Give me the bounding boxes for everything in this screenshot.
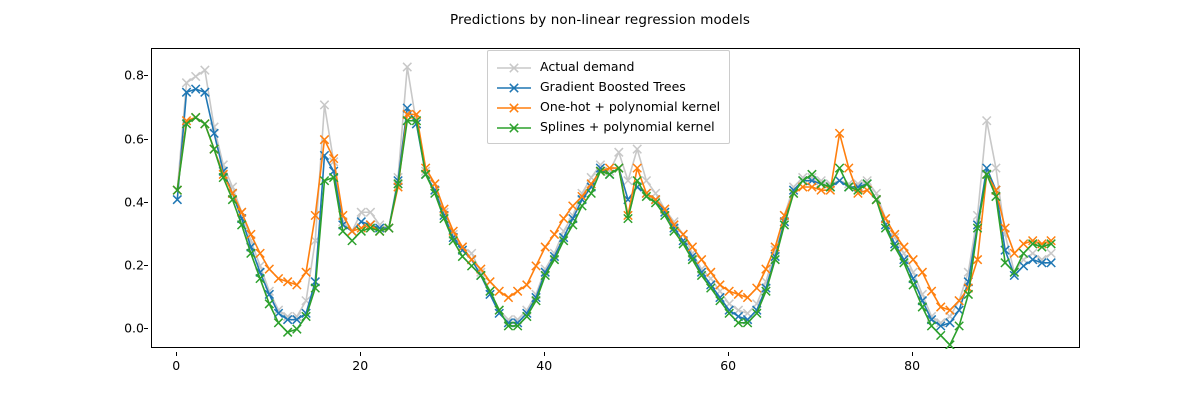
legend-line-sample (496, 120, 532, 134)
x-axis-tick-labels: 020406080 (151, 352, 1080, 374)
legend-item-label: Gradient Boosted Trees (540, 81, 686, 94)
x-tick-mark (728, 352, 729, 356)
y-tick-label: 0.6 (124, 131, 144, 146)
legend-item[interactable]: Splines + polynomial kernel (496, 117, 720, 137)
x-tick-mark (912, 352, 913, 356)
x-tick-label: 0 (172, 358, 180, 373)
legend-line-sample (496, 60, 532, 74)
legend: Actual demandGradient Boosted TreesOne-h… (487, 50, 730, 144)
legend-item-label: Actual demand (540, 61, 634, 74)
y-tick-mark (144, 139, 148, 140)
matplotlib-figure: Predictions by non-linear regression mod… (0, 0, 1200, 400)
legend-line-sample (496, 80, 532, 94)
legend-item[interactable]: One-hot + polynomial kernel (496, 97, 720, 117)
legend-item-label: Splines + polynomial kernel (540, 121, 715, 134)
y-tick-label: 0.4 (124, 194, 144, 209)
x-tick-label: 60 (720, 358, 736, 373)
page-title: Predictions by non-linear regression mod… (0, 12, 1200, 28)
x-tick-label: 20 (352, 358, 368, 373)
x-tick-mark (544, 352, 545, 356)
legend-item-label: One-hot + polynomial kernel (540, 101, 720, 114)
x-tick-label: 80 (904, 358, 920, 373)
y-tick-label: 0.0 (124, 321, 144, 336)
y-tick-mark (144, 328, 148, 329)
legend-line-sample (496, 100, 532, 114)
x-tick-label: 40 (536, 358, 552, 373)
y-tick-label: 0.8 (124, 68, 144, 83)
y-tick-mark (144, 75, 148, 76)
y-tick-mark (144, 265, 148, 266)
x-tick-mark (176, 352, 177, 356)
y-tick-label: 0.2 (124, 257, 144, 272)
y-tick-mark (144, 202, 148, 203)
legend-item[interactable]: Actual demand (496, 57, 720, 77)
y-axis-tick-labels: 0.00.20.40.60.8 (101, 48, 144, 348)
x-tick-mark (360, 352, 361, 356)
legend-item[interactable]: Gradient Boosted Trees (496, 77, 720, 97)
